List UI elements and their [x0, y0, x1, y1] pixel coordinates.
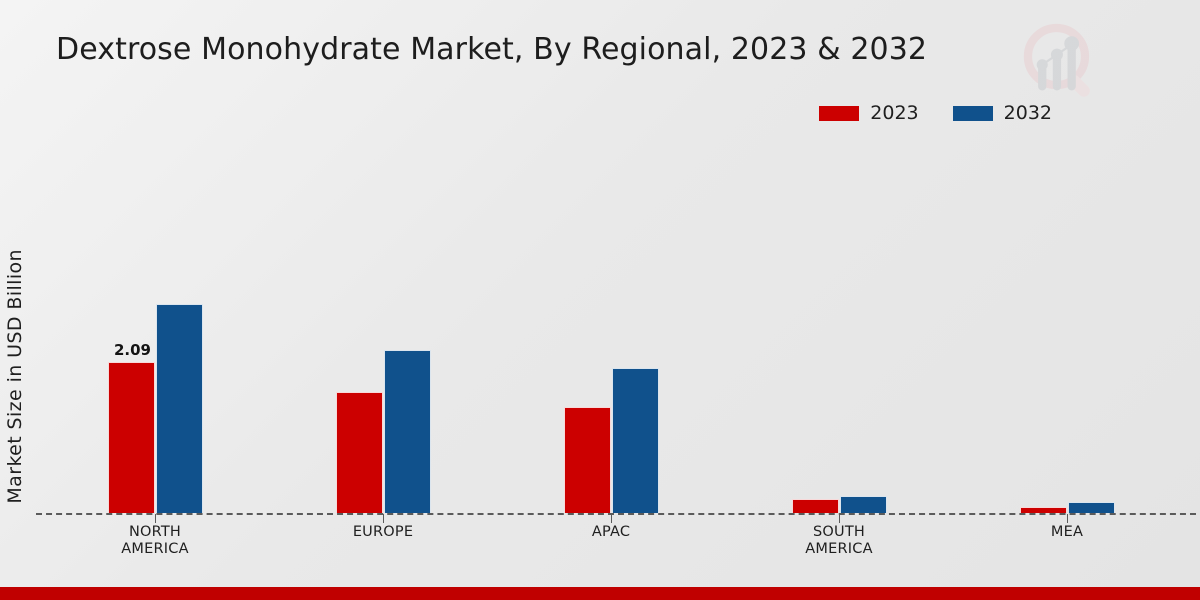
- bar-2032-apac[interactable]: [612, 368, 659, 513]
- bar-2032-mea[interactable]: [1068, 502, 1115, 513]
- bar-2032-north-america[interactable]: [156, 304, 203, 513]
- bar-2023-europe[interactable]: [336, 392, 383, 513]
- bar-2023-north-america[interactable]: 2.09: [108, 362, 155, 513]
- category-label-south-america: SOUTHAMERICA: [749, 524, 929, 558]
- category-label-line: APAC: [521, 524, 701, 541]
- bar-2032-south-america[interactable]: [840, 496, 887, 513]
- axis-tick: [1067, 514, 1068, 523]
- bar-2023-mea[interactable]: [1020, 507, 1067, 513]
- category-label-north-america: NORTHAMERICA: [65, 524, 245, 558]
- bar-2023-south-america[interactable]: [792, 499, 839, 513]
- category-label-line: AMERICA: [65, 541, 245, 558]
- category-label-line: SOUTH: [749, 524, 929, 541]
- bottom-accent-band: [0, 587, 1200, 600]
- bar-value-label: 2.09: [109, 341, 156, 359]
- category-label-line: NORTH: [65, 524, 245, 541]
- bar-2032-europe[interactable]: [384, 350, 431, 513]
- axis-baseline: [36, 513, 1196, 515]
- bar-group: [1020, 93, 1115, 513]
- category-label-apac: APAC: [521, 524, 701, 541]
- bar-group: [336, 93, 431, 513]
- axis-tick: [611, 514, 612, 523]
- category-label-line: AMERICA: [749, 541, 929, 558]
- plot-area: 2.09 NORTHAMERICAEUROPEAPACSOUTHAMERICAM…: [0, 0, 1200, 600]
- bar-2023-apac[interactable]: [564, 407, 611, 513]
- axis-tick: [383, 514, 384, 523]
- category-label-line: MEA: [977, 524, 1157, 541]
- category-label-mea: MEA: [977, 524, 1157, 541]
- bar-group: [792, 93, 887, 513]
- bar-group: [564, 93, 659, 513]
- category-label-europe: EUROPE: [293, 524, 473, 541]
- bar-group: 2.09: [108, 93, 203, 513]
- axis-tick: [839, 514, 840, 523]
- category-label-line: EUROPE: [293, 524, 473, 541]
- axis-tick: [155, 514, 156, 523]
